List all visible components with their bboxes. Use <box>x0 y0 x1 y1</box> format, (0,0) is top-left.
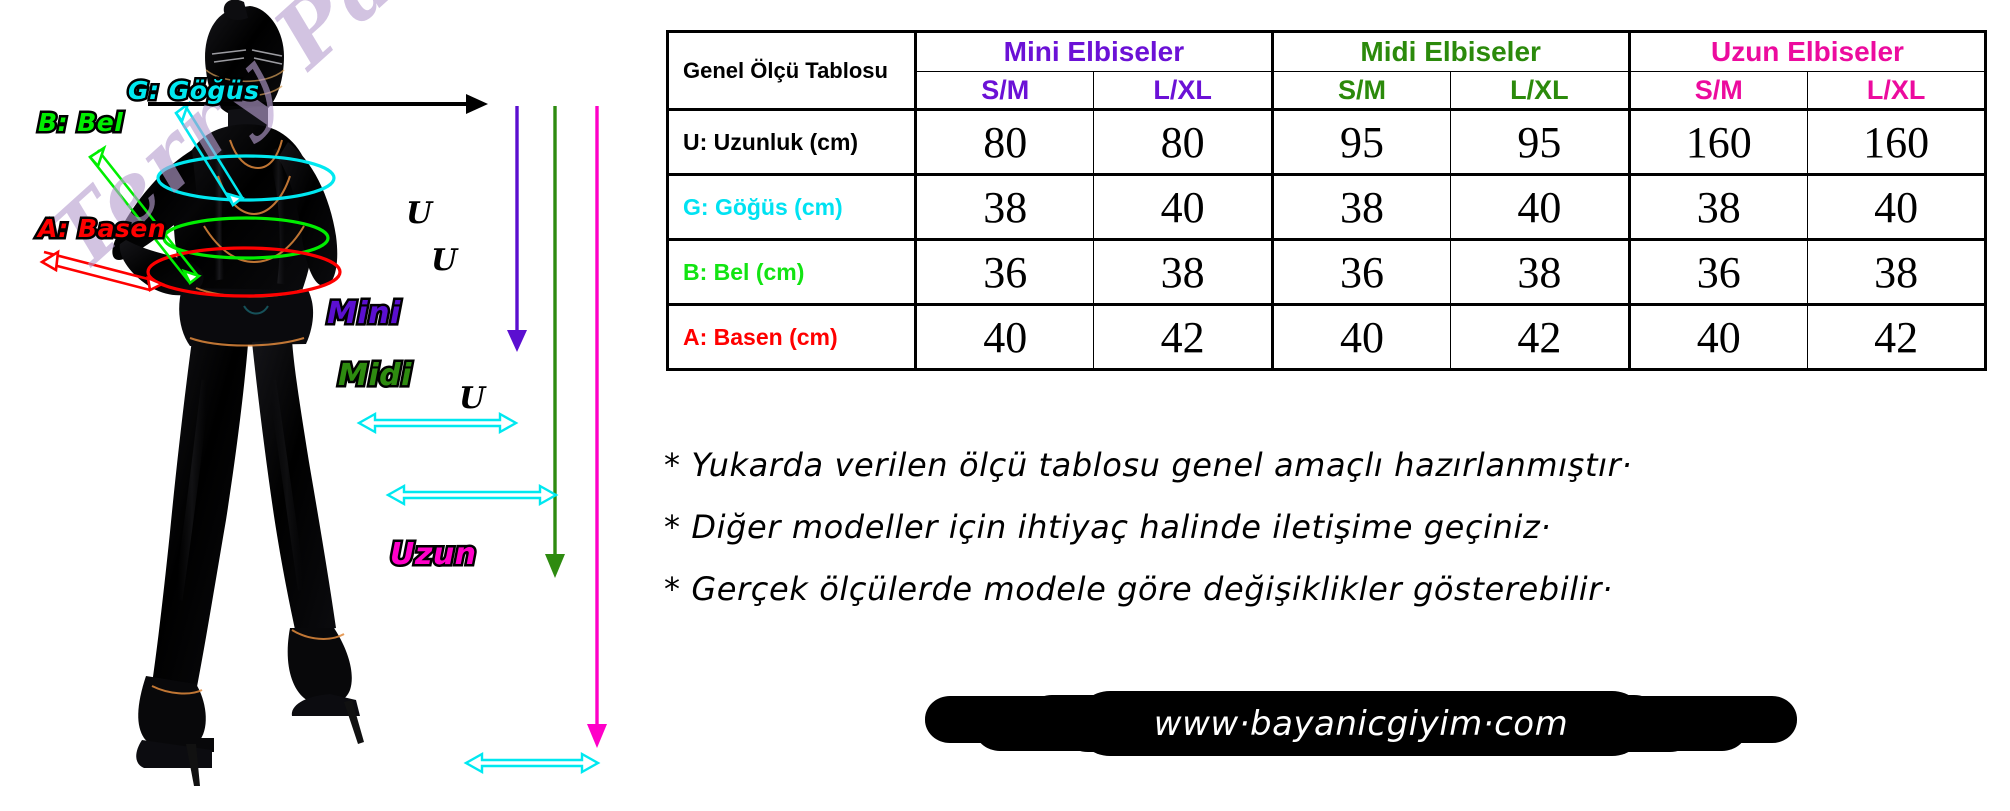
size-chart-page: Terry Pau G: Göğüs G: Göğüs B: Bel B: Be… <box>0 0 2010 811</box>
cell-uzunluk-mini-lxl: 80 <box>1094 110 1272 175</box>
note-line-3: * Gerçek ölçülerde modele göre değişikli… <box>664 573 2004 605</box>
table-row: G: Göğüs (cm) 38 40 38 40 38 40 <box>668 175 1986 240</box>
notes-section: * Yukarda verilen ölçü tablosu genel ama… <box>664 449 2004 635</box>
label-midi: Midi Midi <box>338 358 412 393</box>
table-header-group-row: Genel Ölçü Tablosu Mini Elbiseler Midi E… <box>668 32 1986 72</box>
row-label-bel: B: Bel (cm) <box>668 240 916 305</box>
label-mini: Mini Mini <box>327 296 401 331</box>
note-line-1: * Yukarda verilen ölçü tablosu genel ama… <box>664 449 2004 481</box>
row-label-gogus: G: Göğüs (cm) <box>668 175 916 240</box>
size-header-uzun-sm: S/M <box>1629 72 1807 110</box>
cell-uzunluk-midi-lxl: 95 <box>1451 110 1629 175</box>
label-uzun: Uzun Uzun <box>390 537 477 572</box>
size-header-mini-lxl: L/XL <box>1094 72 1272 110</box>
cell-gogus-uzun-sm: 38 <box>1629 175 1807 240</box>
cell-bel-mini-sm: 36 <box>916 240 1094 305</box>
size-header-midi-sm: S/M <box>1272 72 1450 110</box>
label-gogus: G: Göğüs G: Göğüs <box>128 76 260 105</box>
cell-basen-mini-sm: 40 <box>916 305 1094 370</box>
cell-bel-uzun-lxl: 38 <box>1807 240 1985 305</box>
cell-uzunluk-mini-sm: 80 <box>916 110 1094 175</box>
size-table: Genel Ölçü Tablosu Mini Elbiseler Midi E… <box>666 30 1987 371</box>
row-label-uzunluk: U: Uzunluk (cm) <box>668 110 916 175</box>
size-header-uzun-lxl: L/XL <box>1807 72 1985 110</box>
website-url-text: www·bayanicgiyim·com <box>1076 691 1646 756</box>
mini-hem-arrow <box>359 414 516 432</box>
cell-uzunluk-uzun-sm: 160 <box>1629 110 1807 175</box>
size-header-midi-lxl: L/XL <box>1451 72 1629 110</box>
group-header-uzun: Uzun Elbiseler <box>1629 32 1986 72</box>
table-row: B: Bel (cm) 36 38 36 38 36 38 <box>668 240 1986 305</box>
uzun-hem-arrow <box>466 754 598 772</box>
model-silhouette <box>112 0 364 786</box>
note-line-2: * Diğer modeller için ihtiyaç halinde il… <box>664 511 2004 543</box>
cell-bel-uzun-sm: 36 <box>1629 240 1807 305</box>
group-header-midi: Midi Elbiseler <box>1272 32 1629 72</box>
midi-hem-arrow <box>388 486 556 504</box>
model-illustration: Terry Pau G: Göğüs G: Göğüs B: Bel B: Be… <box>0 0 660 811</box>
table-row: A: Basen (cm) 40 42 40 42 40 42 <box>668 305 1986 370</box>
u-marker-uzun: U U <box>459 381 485 416</box>
size-table-container: Genel Ölçü Tablosu Mini Elbiseler Midi E… <box>666 30 1986 371</box>
cell-gogus-midi-lxl: 40 <box>1451 175 1629 240</box>
cell-basen-midi-sm: 40 <box>1272 305 1450 370</box>
label-bel: B: Bel B: Bel <box>38 108 123 137</box>
size-header-mini-sm: S/M <box>916 72 1094 110</box>
u-marker-mini: U U <box>406 196 432 231</box>
row-label-basen: A: Basen (cm) <box>668 305 916 370</box>
cell-basen-midi-lxl: 42 <box>1451 305 1629 370</box>
table-corner-label: Genel Ölçü Tablosu <box>668 32 916 110</box>
website-url-badge[interactable]: www·bayanicgiyim·com <box>1076 691 1646 756</box>
hem-indicator-arrows <box>359 414 598 772</box>
length-lines <box>507 106 607 748</box>
cell-uzunluk-midi-sm: 95 <box>1272 110 1450 175</box>
label-basen: A: Basen A: Basen <box>38 214 166 243</box>
cell-basen-mini-lxl: 42 <box>1094 305 1272 370</box>
cell-bel-mini-lxl: 38 <box>1094 240 1272 305</box>
cell-gogus-mini-sm: 38 <box>916 175 1094 240</box>
cell-gogus-midi-sm: 38 <box>1272 175 1450 240</box>
cell-basen-uzun-sm: 40 <box>1629 305 1807 370</box>
cell-uzunluk-uzun-lxl: 160 <box>1807 110 1985 175</box>
group-header-mini: Mini Elbiseler <box>916 32 1273 72</box>
cell-bel-midi-sm: 36 <box>1272 240 1450 305</box>
cell-gogus-uzun-lxl: 40 <box>1807 175 1985 240</box>
cell-bel-midi-lxl: 38 <box>1451 240 1629 305</box>
u-marker-midi: U U <box>431 243 457 278</box>
cell-gogus-mini-lxl: 40 <box>1094 175 1272 240</box>
cell-basen-uzun-lxl: 42 <box>1807 305 1985 370</box>
table-row: U: Uzunluk (cm) 80 80 95 95 160 160 <box>668 110 1986 175</box>
